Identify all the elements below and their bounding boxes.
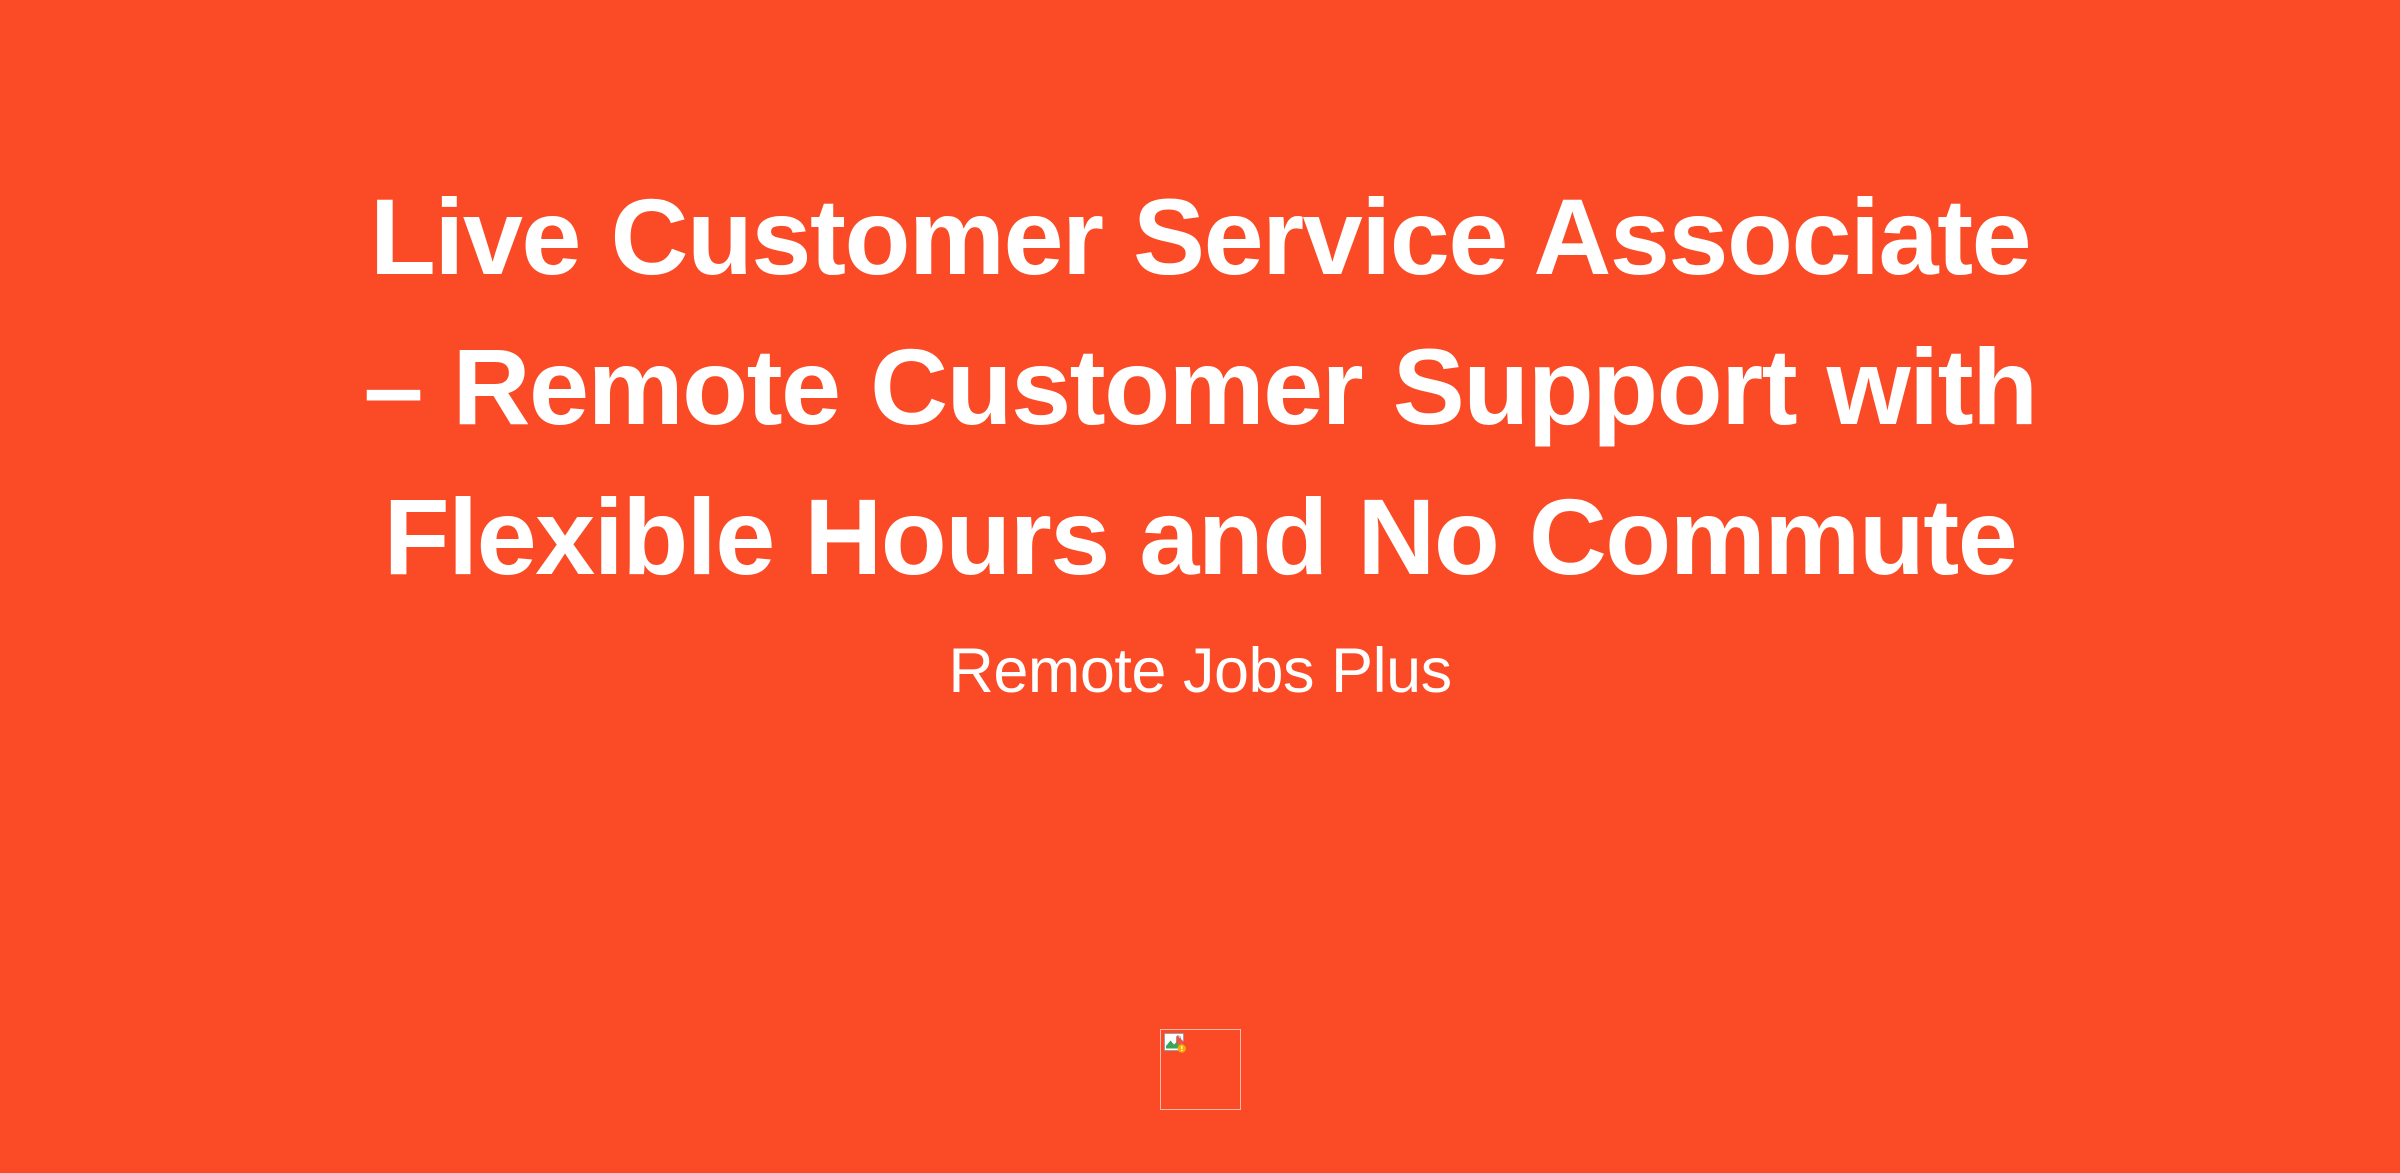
broken-image-placeholder[interactable]	[1160, 1029, 1241, 1110]
site-name-subtitle: Remote Jobs Plus	[948, 634, 1451, 708]
hero-section: Live Customer Service Associate – Remote…	[0, 0, 2400, 708]
page-root: Live Customer Service Associate – Remote…	[0, 0, 2400, 1173]
page-title: Live Customer Service Associate – Remote…	[340, 162, 2060, 612]
broken-image-icon	[1164, 1033, 1188, 1055]
logo-slot	[1160, 1029, 1241, 1110]
